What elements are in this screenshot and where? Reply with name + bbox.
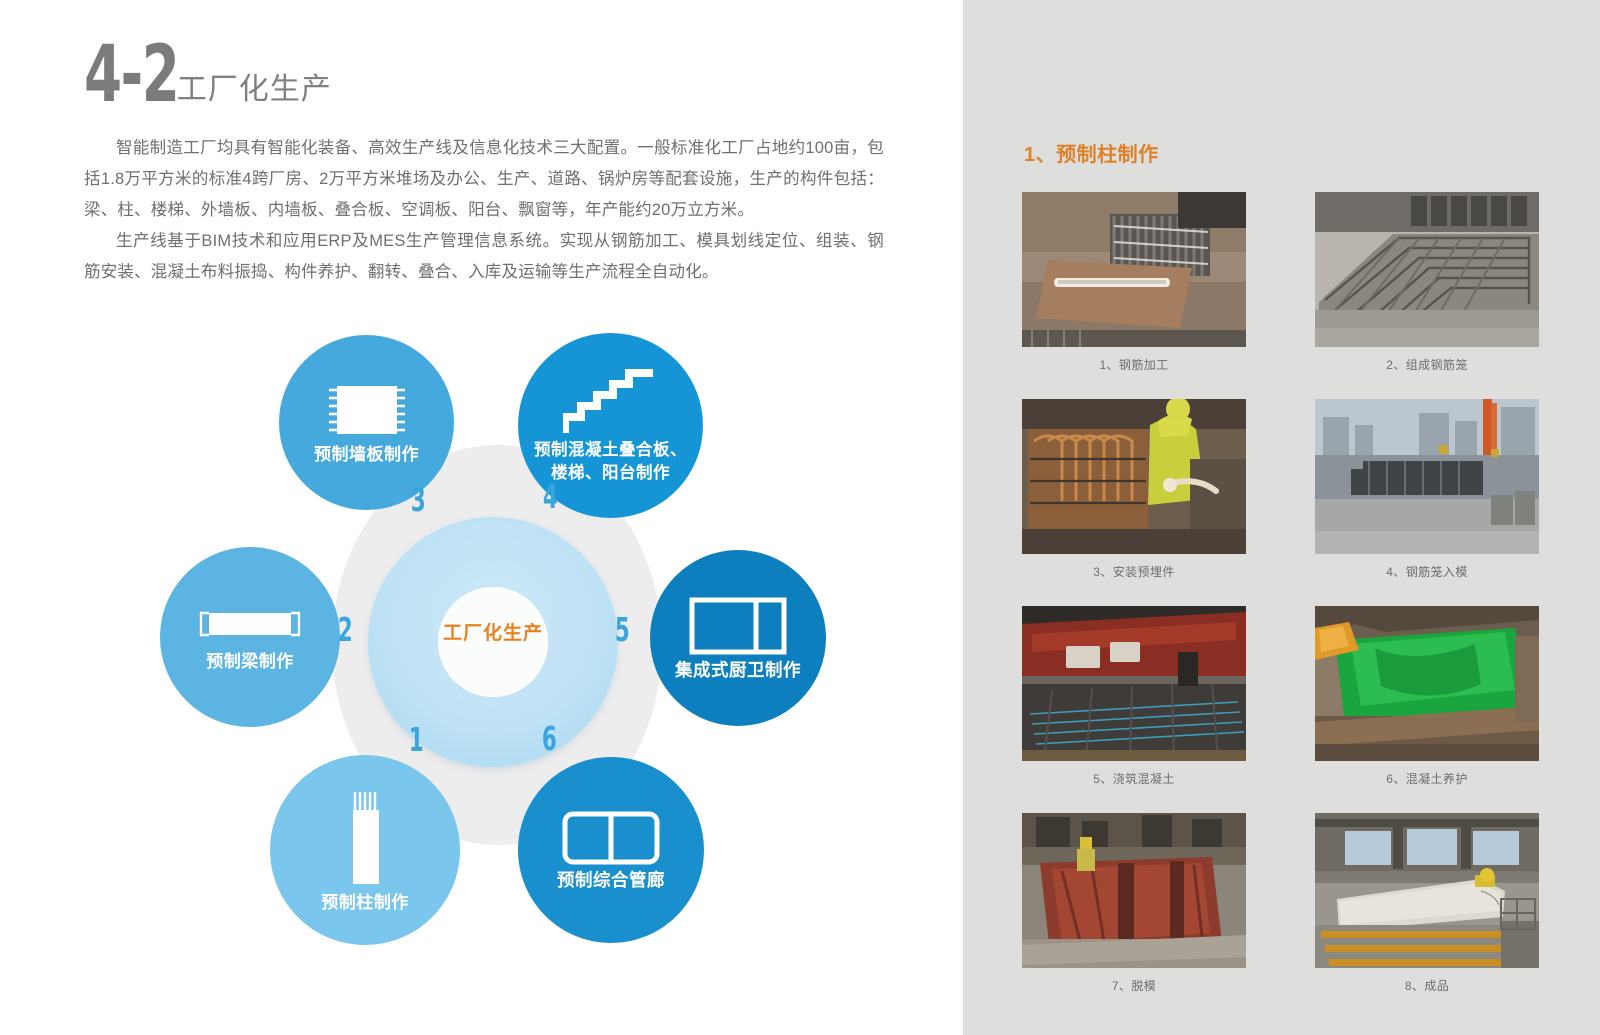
photo-caption: 5、浇筑混凝土 bbox=[1022, 770, 1246, 787]
step-number-4: 4 bbox=[543, 477, 558, 516]
photo-caption: 6、混凝土养护 bbox=[1315, 770, 1539, 787]
photo-caption: 7、脱模 bbox=[1022, 977, 1246, 994]
photo-caption: 4、钢筋笼入模 bbox=[1315, 563, 1539, 580]
photo-caption: 1、钢筋加工 bbox=[1022, 356, 1246, 373]
diagram-node-kitchen-bath[interactable]: 集成式厨卫制作 bbox=[650, 550, 826, 726]
paragraph-1: 智能制造工厂均具有智能化装备、高效生产线及信息化技术三大配置。一般标准化工厂占地… bbox=[84, 133, 884, 226]
step-number-3: 3 bbox=[411, 480, 426, 519]
stairs-icon bbox=[563, 367, 659, 439]
photo-grid: 1、钢筋加工 bbox=[1022, 192, 1539, 994]
paragraph-2: 生产线基于BIM技术和应用ERP及MES生产管理信息系统。实现从钢筋加工、模具划… bbox=[84, 226, 884, 288]
diagram-node-label: 预制梁制作 bbox=[206, 647, 294, 672]
photo-rebar-cage-assembly[interactable] bbox=[1315, 192, 1539, 347]
diagram-node-label: 预制综合管廊 bbox=[557, 867, 665, 892]
step-number-2: 2 bbox=[338, 610, 353, 649]
diagram-node-utility-tunnel[interactable]: 预制综合管廊 bbox=[518, 757, 704, 943]
precast-wallpanel-icon bbox=[323, 380, 411, 440]
photo-cage-into-mould[interactable] bbox=[1315, 399, 1539, 554]
diagram-node-label: 预制柱制作 bbox=[321, 888, 409, 913]
photo-cell: 7、脱模 bbox=[1022, 813, 1246, 994]
right-panel: 1、预制柱制作 bbox=[963, 0, 1600, 1035]
photo-cell: 6、混凝土养护 bbox=[1315, 606, 1539, 787]
right-panel-heading: 1、预制柱制作 bbox=[1024, 138, 1159, 167]
process-diagram: 工厂化生产 1 2 3 4 5 6 bbox=[150, 325, 850, 950]
kitchen-bath-icon bbox=[688, 595, 788, 657]
title-text: 工厂化生产 bbox=[177, 64, 332, 108]
photo-cell: 4、钢筋笼入模 bbox=[1315, 399, 1539, 580]
photo-concrete-curing[interactable] bbox=[1315, 606, 1539, 761]
photo-cell: 5、浇筑混凝土 bbox=[1022, 606, 1246, 787]
diagram-node-precast-wallpanel[interactable]: 预制墙板制作 bbox=[279, 335, 454, 510]
precast-beam-icon bbox=[195, 603, 305, 647]
diagram-node-label: 预制墙板制作 bbox=[314, 440, 419, 465]
utility-tunnel-icon bbox=[561, 809, 661, 867]
photo-caption: 2、组成钢筋笼 bbox=[1315, 356, 1539, 373]
photo-caption: 8、成品 bbox=[1315, 977, 1539, 994]
step-number-1: 1 bbox=[409, 720, 424, 759]
diagram-node-precast-column[interactable]: 预制柱制作 bbox=[270, 755, 460, 945]
diagram-node-label: 集成式厨卫制作 bbox=[675, 657, 801, 682]
photo-caption: 3、安装预埋件 bbox=[1022, 563, 1246, 580]
photo-rebar-processing[interactable] bbox=[1022, 192, 1246, 347]
step-number-6: 6 bbox=[542, 719, 557, 758]
hub-label: 工厂化生产 bbox=[428, 618, 558, 645]
photo-embedded-parts-install[interactable] bbox=[1022, 399, 1246, 554]
left-page: 4-2工厂化生产 智能制造工厂均具有智能化装备、高效生产线及信息化技术三大配置。… bbox=[0, 0, 963, 1035]
photo-demoulding[interactable] bbox=[1022, 813, 1246, 968]
page-title: 4-2工厂化生产 bbox=[84, 36, 360, 114]
photo-cell: 1、钢筋加工 bbox=[1022, 192, 1246, 373]
photo-finished-product[interactable] bbox=[1315, 813, 1539, 968]
intro-paragraphs: 智能制造工厂均具有智能化装备、高效生产线及信息化技术三大配置。一般标准化工厂占地… bbox=[84, 133, 884, 288]
photo-concrete-pouring[interactable] bbox=[1022, 606, 1246, 761]
photo-cell: 3、安装预埋件 bbox=[1022, 399, 1246, 580]
diagram-node-label-line1: 预制混凝土叠合板、 bbox=[534, 441, 687, 459]
photo-cell: 8、成品 bbox=[1315, 813, 1539, 994]
photo-cell: 2、组成钢筋笼 bbox=[1315, 192, 1539, 373]
diagram-node-precast-beam[interactable]: 预制梁制作 bbox=[160, 547, 340, 727]
diagram-node-label-line2: 楼梯、阳台制作 bbox=[551, 464, 670, 482]
step-number-5: 5 bbox=[615, 610, 630, 649]
title-number: 4-2 bbox=[84, 36, 178, 114]
precast-column-icon bbox=[341, 788, 389, 888]
